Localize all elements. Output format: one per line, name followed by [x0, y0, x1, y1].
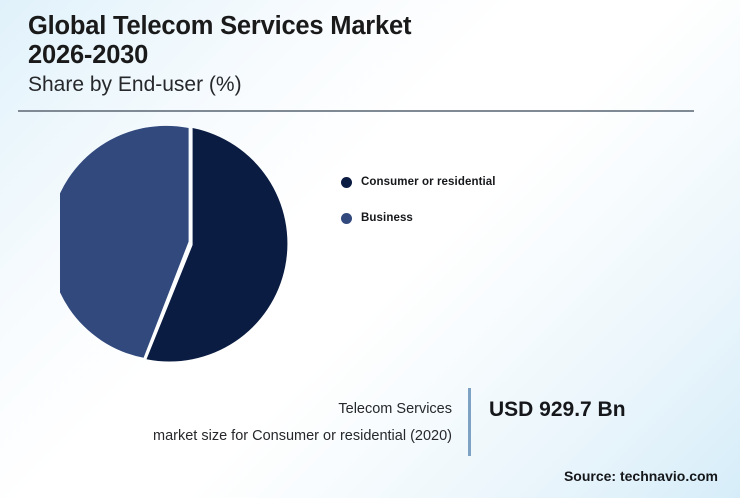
- pie-chart: [60, 118, 322, 374]
- chart-canvas: Global Telecom Services Market 2026-2030…: [0, 0, 740, 498]
- legend-label: Business: [361, 212, 413, 224]
- footer-note-line-1: Telecom Services: [60, 396, 452, 423]
- header-divider: [18, 110, 694, 112]
- pie-chart-svg: [60, 118, 322, 374]
- chart-header: Global Telecom Services Market 2026-2030…: [28, 12, 712, 98]
- page-title-line-2: 2026-2030: [28, 41, 712, 70]
- page-title-line-1: Global Telecom Services Market: [28, 12, 712, 41]
- legend-label: Consumer or residential: [361, 176, 496, 188]
- legend-item-business[interactable]: Business: [341, 204, 631, 232]
- market-size-value: USD 929.7 Bn: [489, 398, 626, 422]
- source-attribution: Source: technavio.com: [564, 468, 718, 484]
- footer-divider: [468, 388, 471, 456]
- footer-note-line-2: market size for Consumer or residential …: [60, 423, 452, 450]
- page-subtitle: Share by End-user (%): [28, 71, 712, 98]
- circle-marker-icon: [341, 213, 352, 224]
- legend-item-consumer-or-residential[interactable]: Consumer or residential: [341, 168, 631, 196]
- circle-marker-icon: [341, 177, 352, 188]
- footer-note: Telecom Services market size for Consume…: [60, 396, 452, 450]
- chart-legend: Consumer or residential Business: [341, 168, 631, 240]
